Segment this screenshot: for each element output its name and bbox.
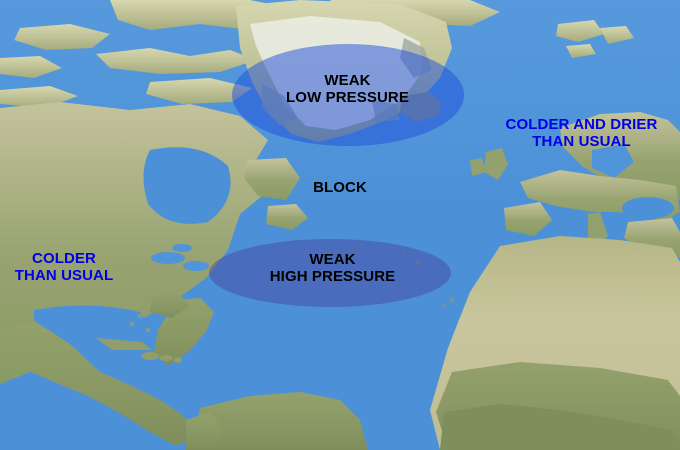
weather-map-figure: WEAK LOW PRESSURE BLOCK WEAK HIGH PRESSU… [0,0,680,450]
north-atlantic-basemap [0,0,680,450]
